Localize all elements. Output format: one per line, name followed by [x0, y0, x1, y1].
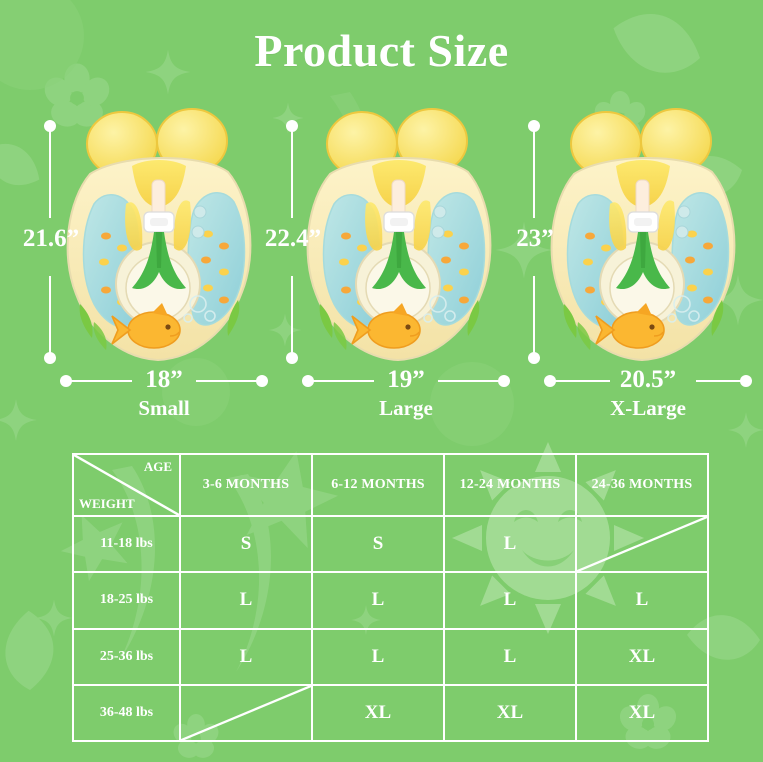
row-label-36-48-lbs: 36-48 lbs [73, 685, 180, 741]
age-weight-corner-cell: AGE WEIGHT [73, 454, 180, 516]
measure-line-bottom [291, 276, 293, 356]
column-header-24-36-months: 24-36 MONTHS [576, 454, 708, 516]
measure-line-top [533, 126, 535, 218]
measure-line-top [49, 126, 51, 218]
width-measure-small: 18” Small [60, 366, 268, 428]
height-value-small: 21.6” [13, 225, 89, 253]
cell-36-48-24-36: XL [576, 685, 708, 741]
measure-line-bottom [533, 276, 535, 356]
cell-18-25-3-6: L [180, 572, 312, 628]
not-applicable-diagonal-icon [181, 686, 311, 740]
cell-11-18-3-6: S [180, 516, 312, 572]
height-measure-xlarge: 23” [519, 118, 549, 366]
height-measure-large: 22.4” [277, 118, 307, 366]
measure-line-right [696, 380, 742, 382]
width-measure-large: 19” Large [302, 366, 510, 428]
measure-line-right [438, 380, 500, 382]
measure-dot-bottom [528, 352, 540, 364]
column-header-6-12-months: 6-12 MONTHS [312, 454, 444, 516]
table-row: 18-25 lbs L L L L [73, 572, 708, 628]
product-name-xlarge: X-Large [544, 396, 752, 421]
cell-25-36-6-12: L [312, 629, 444, 685]
weight-axis-label: WEIGHT [79, 496, 135, 512]
page-title: Product Size [0, 24, 763, 77]
cell-36-48-12-24: XL [444, 685, 576, 741]
table-row: 25-36 lbs L L L XL [73, 629, 708, 685]
cell-25-36-24-36: XL [576, 629, 708, 685]
measure-dot-bottom [286, 352, 298, 364]
size-chart: AGE WEIGHT 3-6 MONTHS 6-12 MONTHS 12-24 … [72, 453, 709, 742]
age-axis-label: AGE [144, 459, 172, 475]
column-header-3-6-months: 3-6 MONTHS [180, 454, 312, 516]
cell-11-18-6-12: S [312, 516, 444, 572]
height-value-large: 22.4” [255, 225, 331, 253]
cell-25-36-12-24: L [444, 629, 576, 685]
cell-11-18-24-36-empty [576, 516, 708, 572]
height-value-xlarge: 23” [505, 225, 565, 253]
size-chart-table: AGE WEIGHT 3-6 MONTHS 6-12 MONTHS 12-24 … [72, 453, 692, 742]
cell-11-18-12-24: L [444, 516, 576, 572]
table-row: 11-18 lbs S S L [73, 516, 708, 572]
cell-25-36-3-6: L [180, 629, 312, 685]
product-image-xlarge [534, 108, 762, 374]
measure-dot-right [740, 375, 752, 387]
measure-line-top [291, 126, 293, 218]
height-measure-small: 21.6” [35, 118, 65, 366]
measure-dot-right [498, 375, 510, 387]
cell-18-25-12-24: L [444, 572, 576, 628]
measure-line-bottom [49, 276, 51, 356]
not-applicable-diagonal-icon [577, 517, 707, 571]
product-name-large: Large [302, 396, 510, 421]
cell-36-48-6-12: XL [312, 685, 444, 741]
measure-dot-right [256, 375, 268, 387]
row-label-25-36-lbs: 25-36 lbs [73, 629, 180, 685]
baby-float-illustration [534, 108, 762, 374]
width-measure-xlarge: 20.5” X-Large [544, 366, 752, 428]
cell-36-48-3-6-empty [180, 685, 312, 741]
cell-18-25-6-12: L [312, 572, 444, 628]
column-header-12-24-months: 12-24 MONTHS [444, 454, 576, 516]
product-name-small: Small [60, 396, 268, 421]
measure-line-right [196, 380, 258, 382]
table-header-row: AGE WEIGHT 3-6 MONTHS 6-12 MONTHS 12-24 … [73, 454, 708, 516]
infographic-canvas: Product Size [0, 0, 763, 762]
row-label-11-18-lbs: 11-18 lbs [73, 516, 180, 572]
cell-18-25-24-36: L [576, 572, 708, 628]
table-row: 36-48 lbs XL XL XL [73, 685, 708, 741]
measure-dot-bottom [44, 352, 56, 364]
row-label-18-25-lbs: 18-25 lbs [73, 572, 180, 628]
